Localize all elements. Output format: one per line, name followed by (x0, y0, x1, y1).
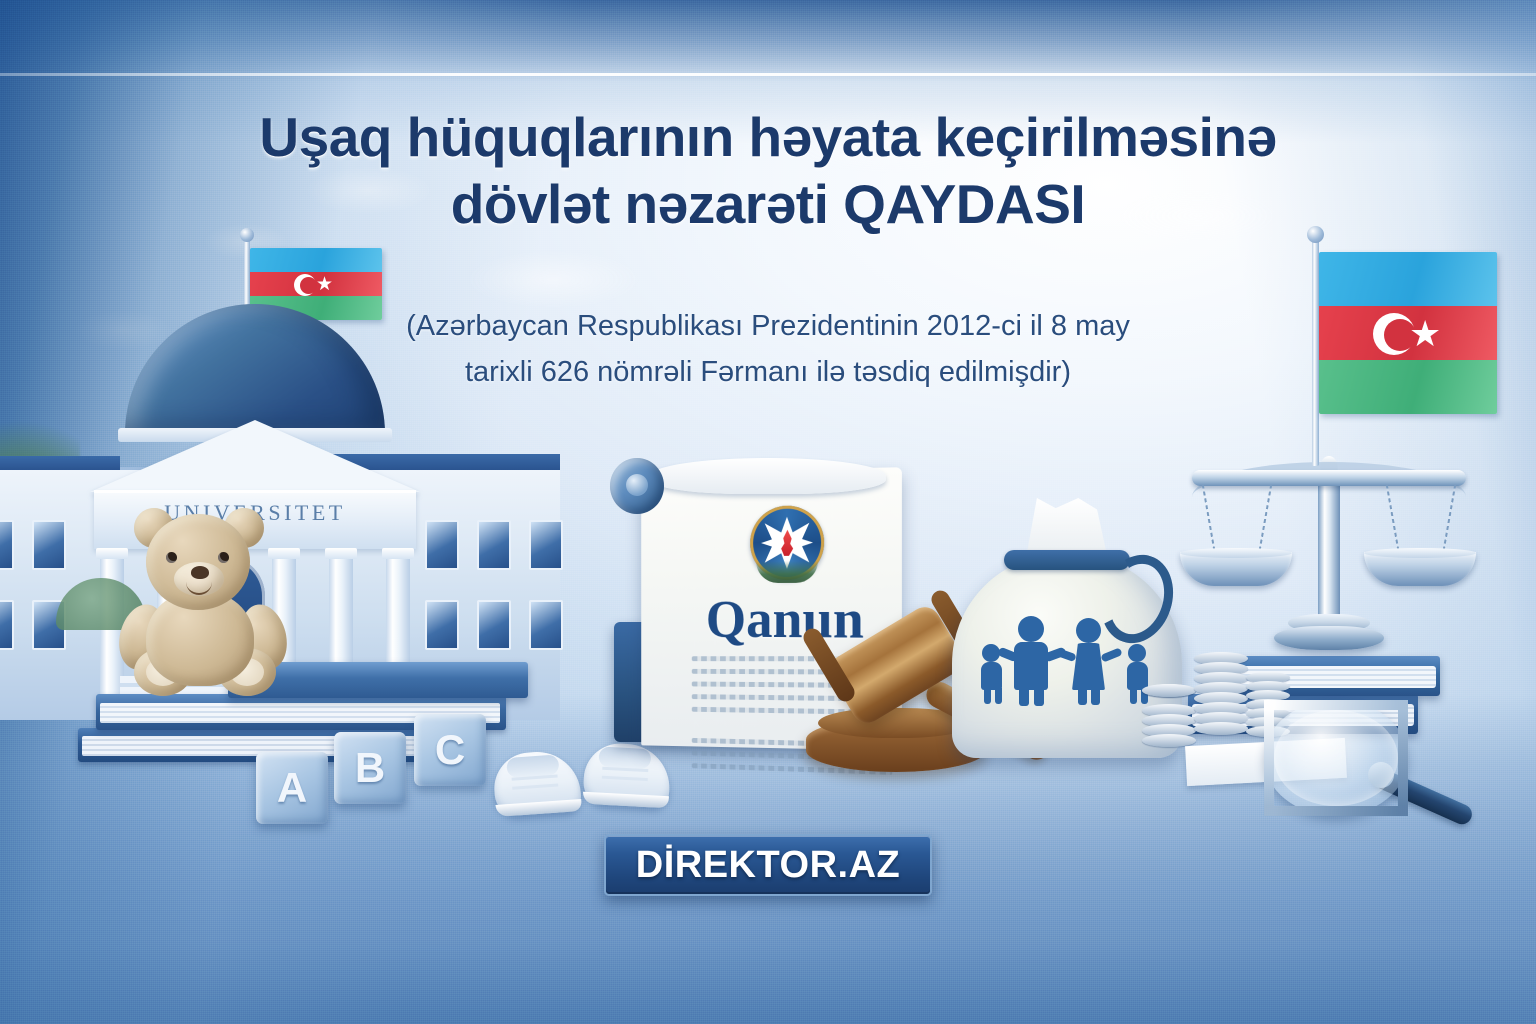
family-silhouette-icon (976, 610, 1158, 706)
flag-stripe-cyan (1319, 252, 1497, 306)
magnifying-glass (1264, 700, 1484, 820)
flag-stripe-cyan (250, 248, 382, 272)
coin (1194, 722, 1248, 735)
bear-eye-right (218, 552, 229, 563)
site-badge-label: DİREKTOR.AZ (636, 844, 900, 887)
window (529, 600, 563, 650)
page-subtitle: (Azərbaycan Respublikası Prezidentinin 2… (328, 303, 1208, 396)
bear-nose (191, 566, 209, 579)
window (477, 600, 511, 650)
window-row-right-lower (425, 600, 563, 650)
baby-shoe-left (492, 749, 582, 817)
scroll-top-curl (650, 458, 886, 494)
figure-father-body (1014, 642, 1048, 690)
window (477, 520, 511, 570)
money-bag-tie (1004, 550, 1130, 570)
site-badge[interactable]: DİREKTOR.AZ (604, 834, 932, 896)
teddy-bear (108, 508, 298, 698)
figure-child-left-leg (984, 688, 991, 704)
title-line-2: dövlət nəzarəti QAYDASI (208, 171, 1328, 238)
block-letter: C (435, 726, 465, 774)
window (0, 520, 14, 570)
coin (1142, 684, 1196, 697)
title-line-1: Uşaq hüquqlarının həyata keçirilməsinə (208, 104, 1328, 171)
block-letter: A (277, 764, 307, 812)
alphabet-block-b: B (334, 732, 406, 804)
figure-mother-head (1076, 618, 1101, 643)
page-title: Uşaq hüquqlarının həyata keçirilməsinə d… (208, 104, 1328, 238)
scales-base (1274, 626, 1384, 650)
alphabet-block-c: C (414, 714, 486, 786)
poster-canvas: ★ UNIVERSITET (0, 0, 1536, 1024)
pediment-triangle (90, 420, 420, 492)
scales-of-justice (1178, 430, 1478, 680)
scroll-roll (610, 458, 664, 514)
subtitle-line-1: (Azərbaycan Respublikası Prezidentinin 2… (328, 303, 1208, 349)
window-row-right-upper (425, 520, 563, 570)
figure-father-leg (1034, 688, 1044, 706)
scales-beam (1192, 470, 1466, 486)
window (425, 600, 459, 650)
flag-stripe-green (1319, 360, 1497, 414)
star-icon: ★ (316, 275, 333, 294)
shoe-sole (582, 792, 669, 808)
figure-father-leg (1019, 688, 1029, 706)
bear-eye-left (166, 552, 177, 563)
figure-mother-body (1072, 643, 1105, 690)
window (32, 520, 66, 570)
figure-mother-leg (1078, 688, 1087, 705)
scales-pan-left-rim (1180, 548, 1292, 558)
figure-father-head (1018, 616, 1044, 642)
block-letter: B (355, 744, 385, 792)
figure-mother-arm-left (1055, 648, 1077, 662)
alphabet-block-a: A (256, 752, 328, 824)
window (0, 600, 14, 650)
crescent-cutout (300, 277, 317, 294)
flagpole-right (1312, 236, 1319, 466)
figure-child-right-leg (1130, 688, 1137, 704)
figure-child-left-leg (995, 688, 1002, 704)
shoe-sole (495, 799, 582, 817)
window-row-left-upper (0, 520, 66, 570)
figure-mother-leg (1091, 688, 1100, 705)
subtitle-line-2: tarixli 626 nömrəli Fərmanı ilə təsdiq e… (328, 349, 1208, 395)
star-icon: ★ (1409, 316, 1441, 352)
window (425, 520, 459, 570)
top-divider-line (0, 73, 1536, 76)
scales-pan-right-rim (1364, 548, 1476, 558)
flag-cloth-right: ★ (1319, 252, 1497, 414)
magnifier-lens (1264, 700, 1408, 816)
emblem-wreath (756, 561, 818, 583)
window (529, 520, 563, 570)
figure-child-left-body (981, 662, 1002, 690)
alphabet-blocks: A B C (256, 714, 506, 824)
azerbaijan-state-emblem-icon (750, 505, 824, 580)
figure-mother-arm-right (1100, 647, 1122, 662)
